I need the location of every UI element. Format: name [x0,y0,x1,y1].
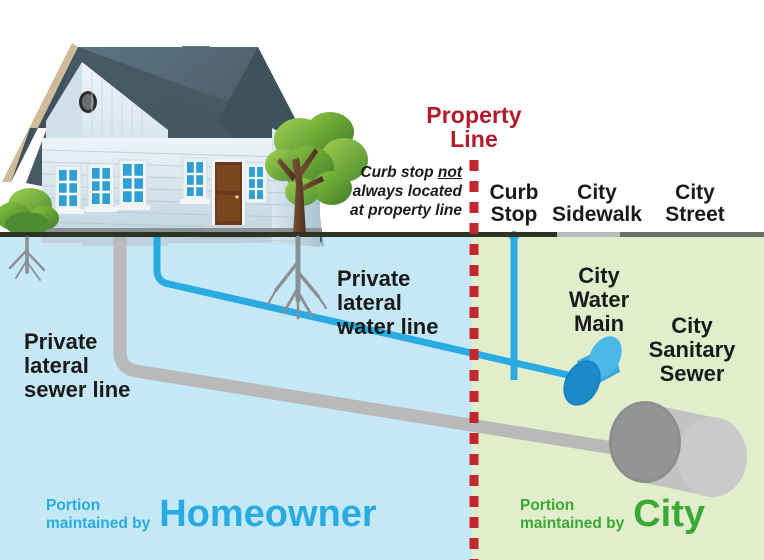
footer-city-big: City [633,497,705,532]
footer-city: Portion maintained by City [520,497,705,532]
footer-city-small: Portion maintained by [520,497,624,532]
footer-homeowner-small: Portion maintained by [46,497,150,532]
label-private-lateral-water-line: Private lateral water line [337,267,477,340]
curb-stop-note: Curb stop notalways locatedat property l… [336,164,462,221]
heading-city-street: City Street [650,182,740,227]
label-city-sanitary-sewer: City Sanitary Sewer [630,314,754,387]
heading-curb-stop: Curb Stop [482,182,546,227]
diagram-canvas: Property Line Curb stop notalways locate… [0,0,764,560]
footer-homeowner: Portion maintained by Homeowner [46,497,377,532]
heading-city-sidewalk: City Sidewalk [548,182,646,227]
label-private-lateral-sewer-line: Private lateral sewer line [24,330,174,403]
property-line-label: Property Line [404,103,544,152]
footer-homeowner-big: Homeowner [159,497,376,532]
